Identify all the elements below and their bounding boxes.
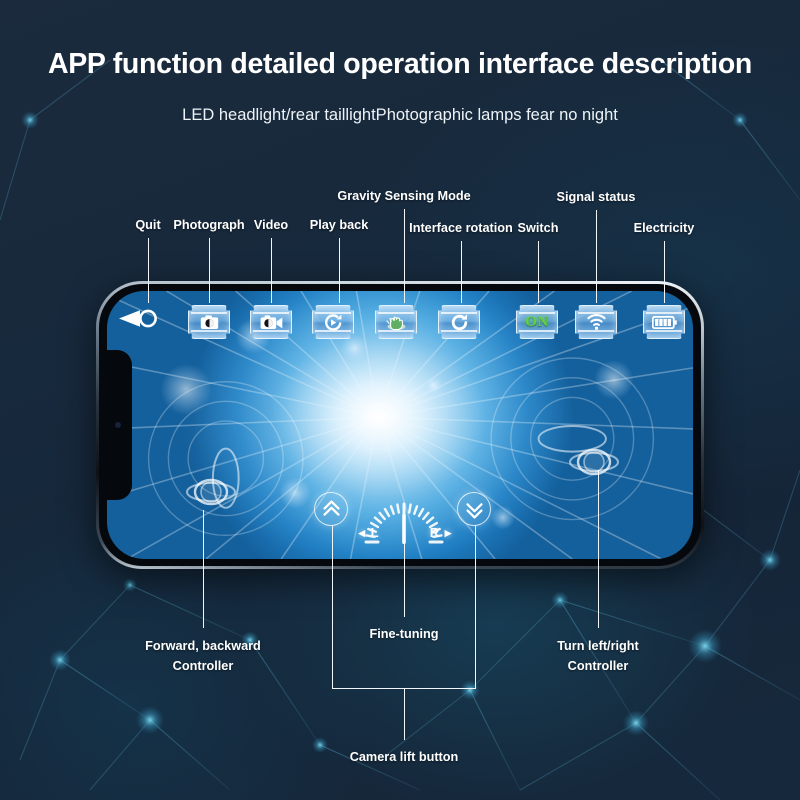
leader-line-lift-up <box>332 525 333 688</box>
rotate-refresh-icon[interactable] <box>438 305 480 339</box>
leader-line-playback-rotate <box>339 238 340 303</box>
turn-left-indicator[interactable]: ◂ L <box>358 525 379 541</box>
leader-line-back-arrow <box>148 238 149 303</box>
app-description-infographic: APP function detailed operation interfac… <box>0 0 800 800</box>
wifi-signal-icon-chassis <box>575 305 617 339</box>
playback-rotate-icon-chassis <box>312 305 354 339</box>
battery-icon[interactable] <box>643 305 685 339</box>
callout-label-back-arrow: Quit <box>135 218 160 232</box>
camera-lift-down-button[interactable] <box>457 492 491 526</box>
callout-line-1: Forward, backward <box>145 637 261 657</box>
on-label: ON <box>525 315 549 330</box>
rotate-refresh-icon-glyph <box>450 313 469 332</box>
callout-label-playback-rotate: Play back <box>310 218 369 232</box>
leader-line-on-switch <box>538 241 539 303</box>
callout-line-1: Camera lift button <box>350 748 459 768</box>
camera-icon-chassis <box>188 305 230 339</box>
leader-line-video-camera <box>271 238 272 303</box>
callout-label-gravity-hand: Gravity Sensing Mode <box>337 189 470 203</box>
callout-line-2: Controller <box>145 657 261 677</box>
callout-label-camera: Photograph <box>173 218 244 232</box>
leader-line-gravity-hand <box>404 209 405 303</box>
callout-label-bottom-2: Turn left/rightController <box>557 637 639 676</box>
wifi-signal-icon-glyph <box>587 314 606 330</box>
camera-icon-glyph <box>200 315 219 330</box>
gravity-hand-icon-chassis <box>375 305 417 339</box>
wifi-signal-icon[interactable] <box>575 305 617 339</box>
callout-line-1: Turn left/right <box>557 637 639 657</box>
callout-label-rotate-refresh: Interface rotation <box>409 221 513 235</box>
callout-label-wifi-signal: Signal status <box>557 190 636 204</box>
turn-right-indicator[interactable]: R ▸ <box>430 525 453 541</box>
video-camera-icon-glyph <box>260 315 283 330</box>
playback-rotate-icon[interactable] <box>312 305 354 339</box>
page-title: APP function detailed operation interfac… <box>0 48 800 81</box>
right-joystick[interactable] <box>567 442 621 487</box>
camera-lift-up-button[interactable] <box>314 492 348 526</box>
leader-line-camera <box>209 238 210 303</box>
callout-label-on-switch: Switch <box>518 221 559 235</box>
left-joystick[interactable] <box>184 472 238 517</box>
phone-notch <box>107 350 132 500</box>
callout-line-1: Fine-tuning <box>369 625 438 645</box>
callout-label-bottom-0: Forward, backwardController <box>145 637 261 676</box>
leader-line-lift-down <box>475 525 476 688</box>
fine-tuning-gauge[interactable] <box>358 488 450 559</box>
on-switch-icon[interactable]: ON <box>516 305 558 339</box>
leader-line-rotate-refresh <box>461 241 462 303</box>
page-subtitle: LED headlight/rear taillightPhotographic… <box>0 106 800 125</box>
gravity-hand-icon[interactable] <box>375 305 417 339</box>
video-camera-icon[interactable] <box>250 305 292 339</box>
front-camera-dot <box>115 422 121 428</box>
leader-line-camera-lift <box>404 688 405 740</box>
leader-line-battery <box>664 241 665 303</box>
leader-line-forward-backward <box>203 510 204 628</box>
back-arrow-icon[interactable] <box>118 308 158 329</box>
callout-label-bottom-3: Camera lift button <box>350 748 459 768</box>
leader-line-turn-left-right <box>598 470 599 628</box>
camera-icon[interactable] <box>188 305 230 339</box>
callout-line-2: Controller <box>557 657 639 677</box>
on-switch-icon-glyph: ON <box>525 315 549 330</box>
rotate-refresh-icon-chassis <box>438 305 480 339</box>
callout-label-bottom-1: Fine-tuning <box>369 625 438 645</box>
callout-label-battery: Electricity <box>634 221 695 235</box>
battery-icon-chassis <box>643 305 685 339</box>
gravity-hand-icon-glyph <box>386 314 407 331</box>
callout-label-video-camera: Video <box>254 218 288 232</box>
on-switch-icon-chassis: ON <box>516 305 558 339</box>
playback-rotate-icon-glyph <box>324 314 343 331</box>
video-camera-icon-chassis <box>250 305 292 339</box>
battery-icon-glyph <box>652 316 677 329</box>
leader-line-wifi-signal <box>596 210 597 303</box>
